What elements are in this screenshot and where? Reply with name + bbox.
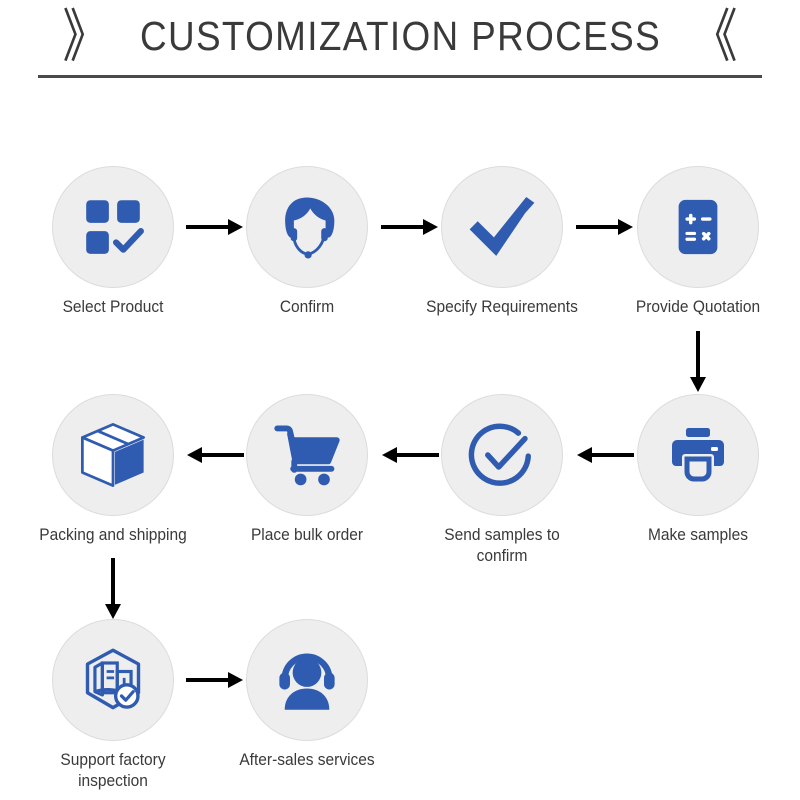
page-title: CUSTOMIZATION PROCESS xyxy=(139,13,660,60)
step-node-provide-quotation[interactable]: Provide Quotation xyxy=(613,166,783,318)
title-row: 》 CUSTOMIZATION PROCESS 《 xyxy=(0,0,800,72)
step-label: Make samples xyxy=(618,525,778,546)
arrow-step8-to-step9 xyxy=(104,558,122,620)
step-node-send-samples-to-confirm[interactable]: Send samples to confirm xyxy=(417,394,587,567)
shopping-cart-icon xyxy=(273,421,341,489)
step-icon-circle xyxy=(52,394,174,516)
step-icon-circle xyxy=(441,394,563,516)
step-node-packing-and-shipping[interactable]: Packing and shipping xyxy=(28,394,198,546)
double-chevron-left-icon: 《 xyxy=(691,7,737,65)
step-node-support-factory-inspection[interactable]: Support factory inspection xyxy=(28,619,198,792)
double-chevron-right-icon: 》 xyxy=(63,7,109,65)
step-label: Place bulk order xyxy=(227,525,387,546)
title-divider xyxy=(38,75,762,78)
step-node-make-samples[interactable]: Make samples xyxy=(613,394,783,546)
page-header: 》 CUSTOMIZATION PROCESS 《 xyxy=(0,0,800,92)
step-label: After-sales services xyxy=(227,750,387,771)
calculator-icon xyxy=(667,196,729,258)
step-node-after-sales-services[interactable]: After-sales services xyxy=(222,619,392,771)
grid-check-icon xyxy=(80,194,146,260)
step-icon-circle xyxy=(246,166,368,288)
headset-person-icon xyxy=(273,646,341,714)
step-node-place-bulk-order[interactable]: Place bulk order xyxy=(222,394,392,546)
step-icon-circle xyxy=(637,166,759,288)
arrow-step4-to-step5 xyxy=(689,331,707,393)
step-icon-circle xyxy=(246,394,368,516)
step-icon-circle xyxy=(52,619,174,741)
step-label: Provide Quotation xyxy=(618,297,778,318)
step-icon-circle xyxy=(441,166,563,288)
step-icon-circle xyxy=(52,166,174,288)
package-box-icon xyxy=(78,420,148,490)
checkmark-icon xyxy=(465,190,539,264)
step-icon-circle xyxy=(637,394,759,516)
step-node-specify-requirements[interactable]: Specify Requirements xyxy=(417,166,587,318)
factory-inspection-icon xyxy=(79,646,147,714)
step-label: Support factory inspection xyxy=(33,750,193,792)
printer-icon xyxy=(666,423,730,487)
step-label: Confirm xyxy=(227,297,387,318)
step-icon-circle xyxy=(246,619,368,741)
step-label: Send samples to confirm xyxy=(422,525,582,567)
support-agent-icon xyxy=(272,192,342,262)
step-label: Specify Requirements xyxy=(422,297,582,318)
check-circle-icon xyxy=(467,420,537,490)
step-node-select-product[interactable]: Select Product xyxy=(28,166,198,318)
step-label: Packing and shipping xyxy=(33,525,193,546)
step-label: Select Product xyxy=(33,297,193,318)
step-node-confirm[interactable]: Confirm xyxy=(222,166,392,318)
